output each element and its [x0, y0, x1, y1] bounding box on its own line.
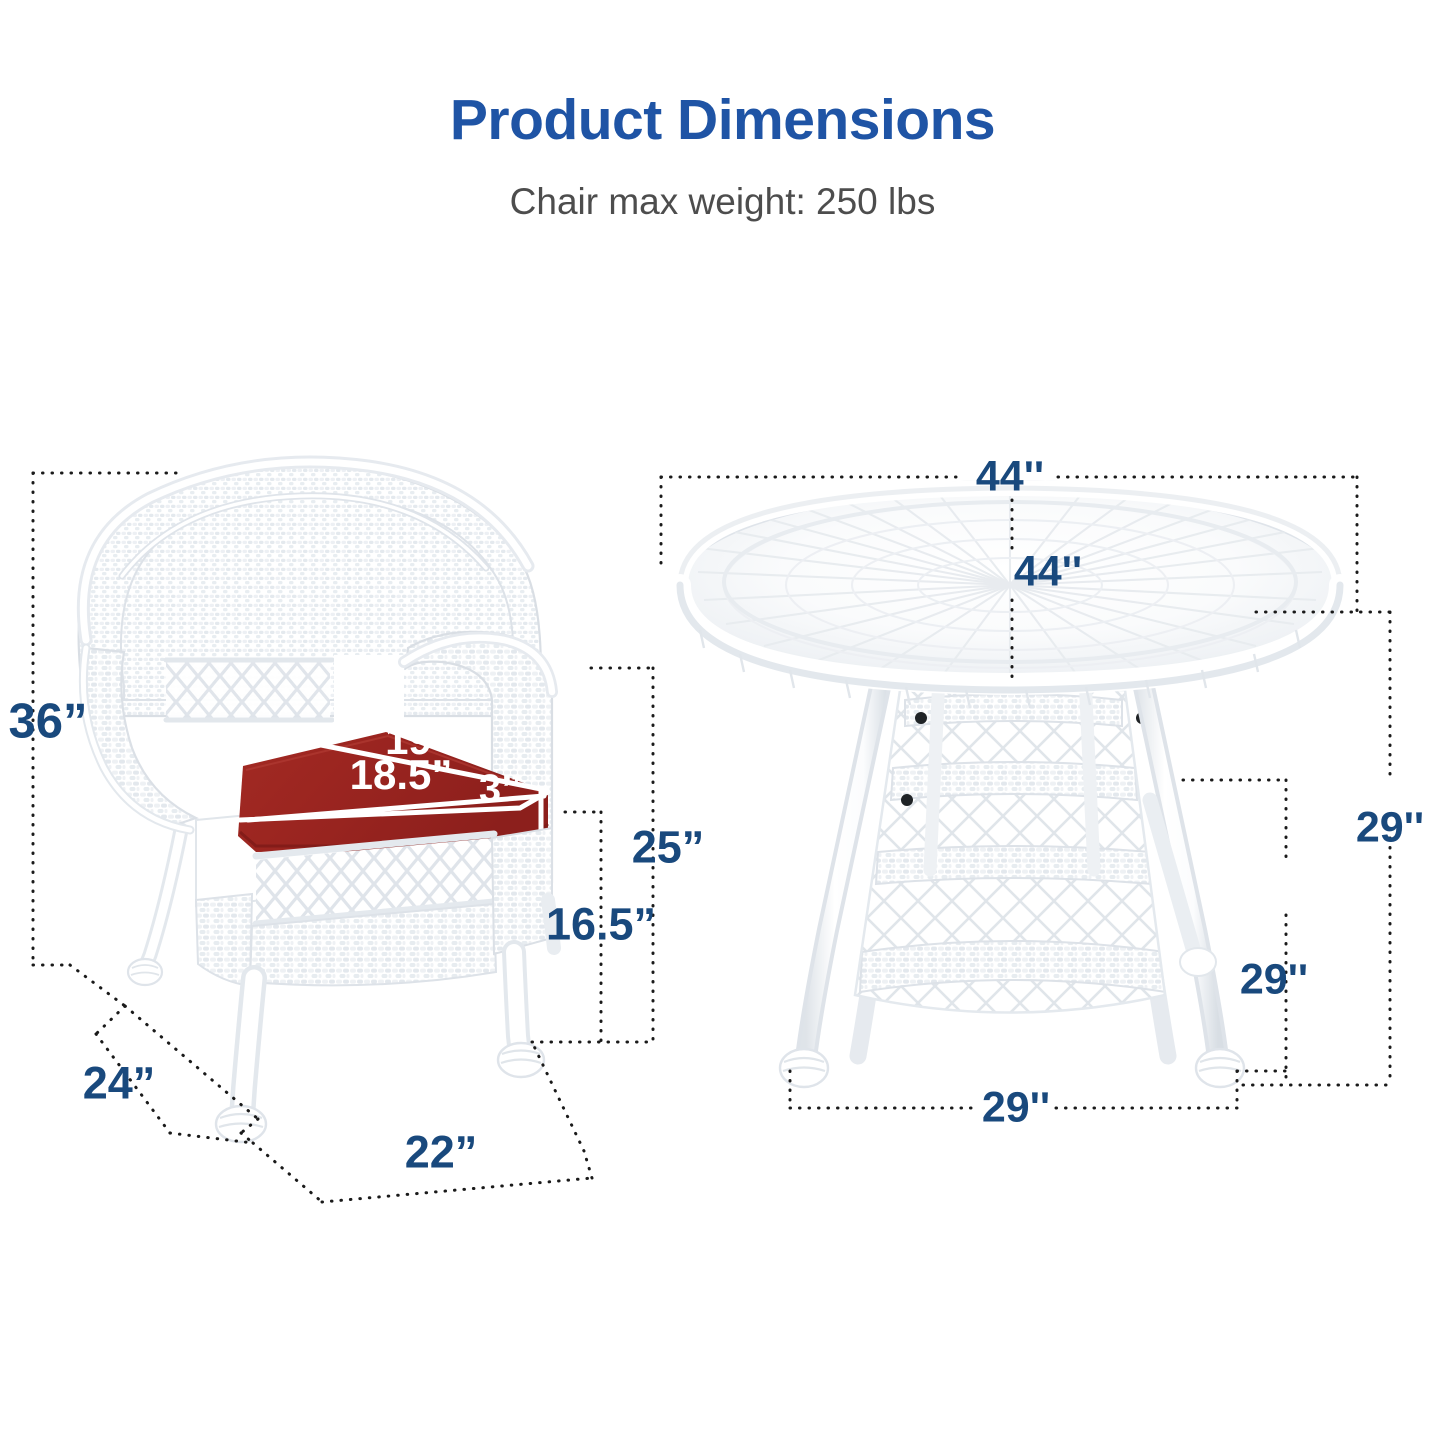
chair-width-label: 22”	[405, 1130, 478, 1175]
table-width-label: 44''	[976, 456, 1044, 499]
chair-seat-height-label: 16.5”	[546, 902, 656, 947]
footprint-edge-a	[70, 965, 125, 1006]
chair-height-label: 36”	[8, 698, 87, 747]
chair-arm-height-label: 25”	[632, 825, 705, 870]
cushion-thickness-label: 3”	[479, 769, 521, 809]
product-dimensions-diagram: Product Dimensions Chair max weight: 250…	[0, 0, 1445, 1445]
table-base-width-label: 29''	[982, 1087, 1050, 1130]
diagram-canvas	[0, 0, 1445, 1445]
chair-width-line	[322, 1178, 592, 1202]
footprint-edge-e	[584, 1151, 592, 1178]
table-base-height-label: 29''	[1240, 959, 1308, 1002]
table-height-label: 29''	[1356, 807, 1424, 850]
footprint-edge-d	[253, 1143, 322, 1202]
table-foot-rear-right	[1180, 948, 1216, 976]
footprint-edge-g	[96, 1006, 125, 1034]
table-foot-left	[780, 1049, 828, 1087]
table-depth-label: 44''	[1014, 551, 1082, 594]
cushion-width-label: 18.5”	[350, 754, 453, 796]
chair-depth-label: 24”	[83, 1061, 156, 1106]
